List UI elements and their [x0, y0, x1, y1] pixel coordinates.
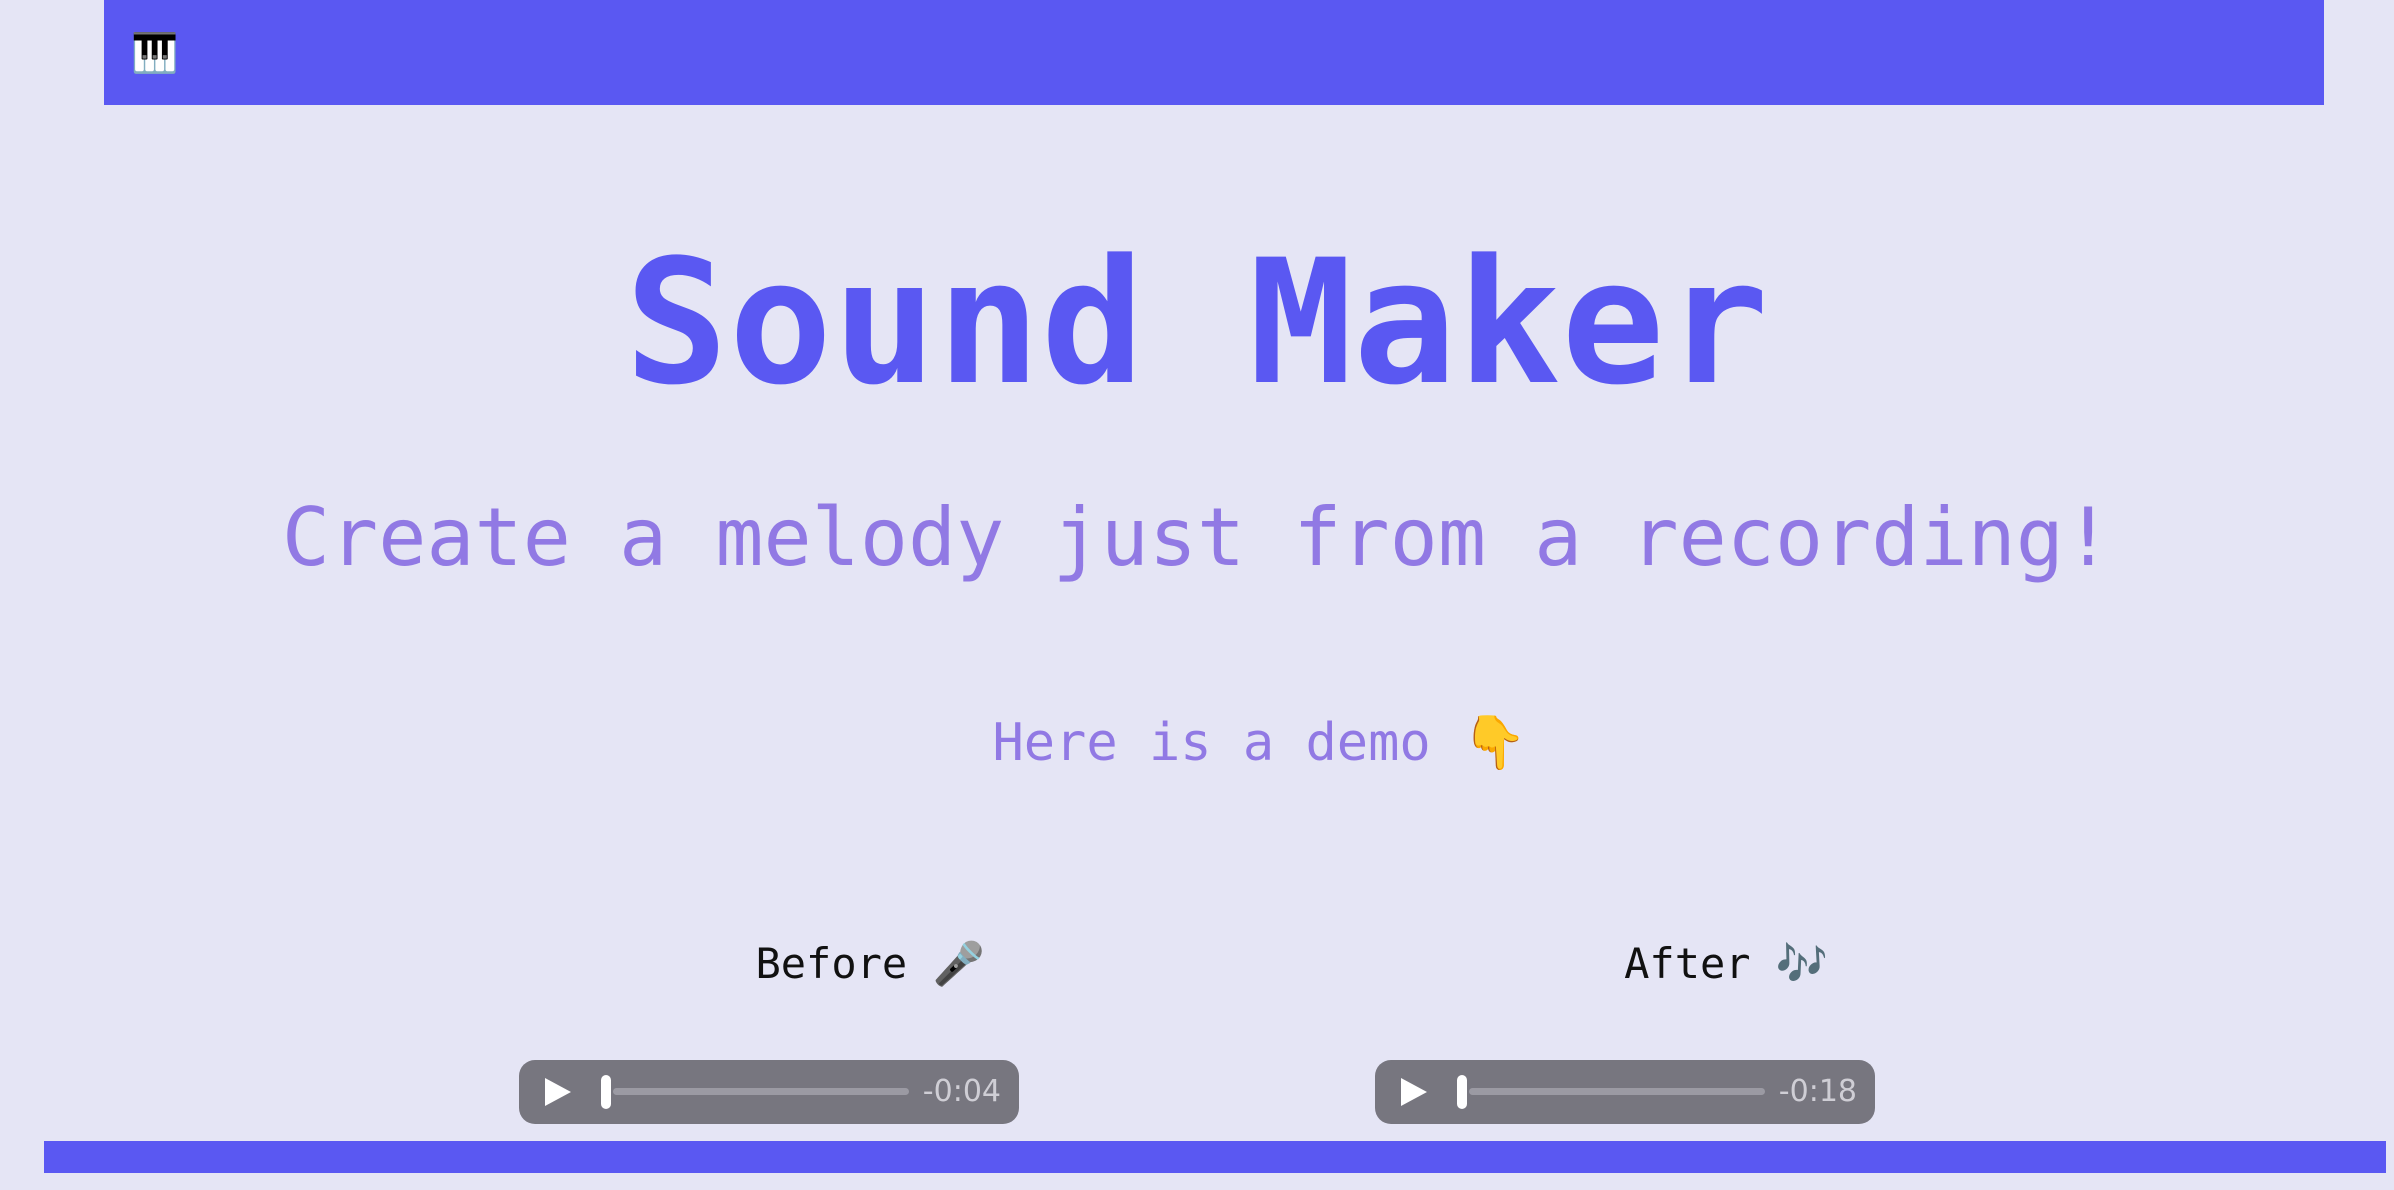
demo-before-column: Before 🎤 -0:04	[519, 895, 1019, 1124]
demo-after-label: After 🎶	[1422, 895, 1828, 1034]
piano-keyboard-icon[interactable]: 🎹	[131, 34, 178, 72]
audio-player-before[interactable]: -0:04	[519, 1060, 1019, 1124]
top-nav-bar: 🎹	[104, 0, 2324, 105]
audio-scrubber-before[interactable]	[601, 1075, 909, 1109]
main-content: Sound Maker Create a melody just from a …	[0, 105, 2394, 1141]
play-triangle-icon[interactable]	[543, 1076, 573, 1108]
play-triangle-icon[interactable]	[1399, 1076, 1429, 1108]
demo-players-row: Before 🎤 -0:04 After 🎶	[0, 895, 2394, 1124]
audio-time-remaining-before: -0:04	[923, 1074, 1001, 1109]
audio-thumb-after[interactable]	[1457, 1075, 1467, 1109]
musical-notes-icon: 🎶	[1776, 939, 1828, 988]
pointing-down-icon: 👇	[1462, 713, 1527, 773]
demo-caption: Here is a demo 👇	[0, 582, 2394, 830]
page-subtitle: Create a melody just from a recording!	[0, 416, 2394, 582]
audio-player-after[interactable]: -0:18	[1375, 1060, 1875, 1124]
demo-after-column: After 🎶 -0:18	[1375, 895, 1875, 1124]
audio-scrubber-after[interactable]	[1457, 1075, 1765, 1109]
microphone-icon: 🎤	[933, 939, 985, 988]
audio-track-before	[613, 1088, 909, 1095]
page-title: Sound Maker	[0, 105, 2394, 416]
demo-before-label-text: Before	[755, 939, 932, 988]
demo-after-label-text: After	[1624, 939, 1776, 988]
demo-caption-text: Here is a demo	[992, 713, 1462, 773]
audio-time-remaining-after: -0:18	[1779, 1074, 1857, 1109]
footer-bar	[44, 1141, 2386, 1173]
audio-track-after	[1469, 1088, 1765, 1095]
demo-before-label: Before 🎤	[553, 895, 985, 1034]
audio-thumb-before[interactable]	[601, 1075, 611, 1109]
